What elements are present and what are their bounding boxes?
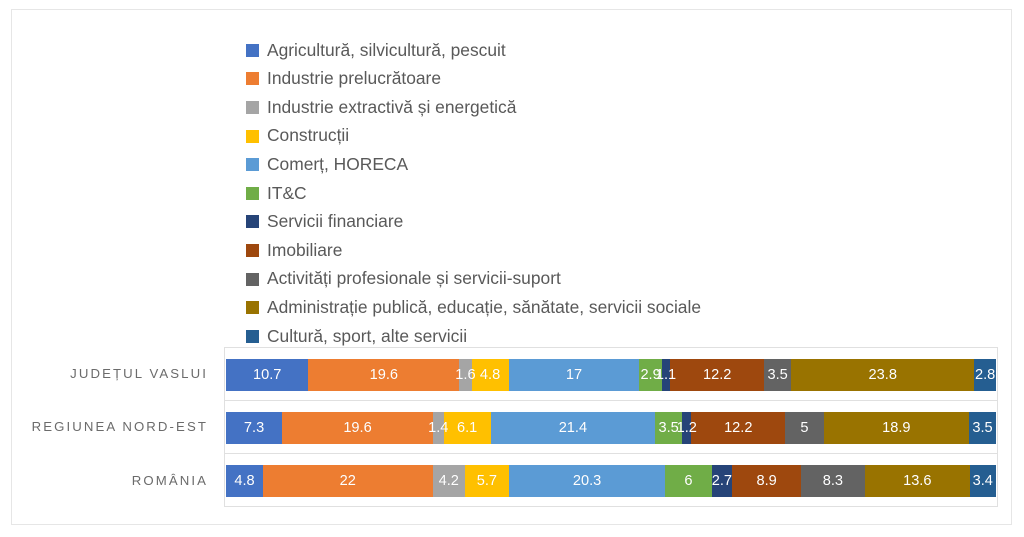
legend-item[interactable]: Industrie prelucrătoare — [246, 65, 846, 94]
bar-segment-data-label: 4.8 — [234, 474, 254, 489]
bar-segment-data-label: 1.6 — [455, 368, 475, 383]
bar-segment[interactable]: 8.3 — [801, 465, 865, 497]
bar-segment-data-label: 3.4 — [973, 474, 993, 489]
bar-segment-data-label: 22 — [340, 474, 356, 489]
plot-area: 10.719.61.64.8172.91.112.23.523.82.87.31… — [224, 347, 998, 507]
bar-segment-data-label: 10.7 — [253, 368, 281, 383]
bar-segment-data-label: 5.7 — [477, 474, 497, 489]
chart-container: Agricultură, silvicultură, pescuitIndust… — [0, 0, 1024, 537]
legend-item-label: Industrie prelucrătoare — [267, 70, 441, 87]
bar-segment[interactable]: 4.2 — [433, 465, 465, 497]
bar-segment-data-label: 2.7 — [712, 474, 732, 489]
bar-segment[interactable]: 2.7 — [712, 465, 733, 497]
legend-item[interactable]: Comerț, HORECA — [246, 150, 846, 179]
bar-segment-data-label: 4.8 — [480, 368, 500, 383]
bar-segment[interactable]: 3.5 — [764, 359, 791, 391]
category-axis-label: JUDEȚUL VASLUI — [70, 347, 208, 400]
bar-segment-data-label: 3.5 — [767, 368, 787, 383]
legend-item[interactable]: Construcții — [246, 122, 846, 151]
legend-swatch-icon — [246, 330, 259, 343]
bar-segment[interactable]: 13.6 — [865, 465, 970, 497]
bar-segment[interactable]: 22 — [263, 465, 433, 497]
bar-segment-data-label: 7.3 — [244, 421, 264, 436]
bar-segment[interactable]: 5 — [785, 412, 823, 444]
gridline — [225, 453, 997, 454]
bar-row: 4.8224.25.720.362.78.98.313.63.4 — [226, 465, 996, 497]
bar-segment[interactable]: 19.6 — [282, 412, 433, 444]
legend-swatch-icon — [246, 72, 259, 85]
legend-item-label: Industrie extractivă și energetică — [267, 99, 516, 116]
bar-segment-data-label: 3.5 — [972, 421, 992, 436]
plot-wrapper: JUDEȚUL VASLUIREGIUNEA NORD-ESTROMÂNIA 1… — [20, 347, 998, 507]
legend-item[interactable]: Activități profesionale și servicii-supo… — [246, 265, 846, 294]
bar-segment-data-label: 19.6 — [343, 421, 371, 436]
bar-row: 7.319.61.46.121.43.51.212.2518.93.5 — [226, 412, 996, 444]
legend-item[interactable]: Servicii financiare — [246, 208, 846, 237]
bar-segment[interactable]: 8.9 — [732, 465, 801, 497]
category-axis-label: ROMÂNIA — [132, 454, 208, 507]
bar-segment[interactable]: 1.1 — [662, 359, 670, 391]
bar-segment-data-label: 5 — [800, 421, 808, 436]
legend-item[interactable]: Industrie extractivă și energetică — [246, 93, 846, 122]
legend-swatch-icon — [246, 158, 259, 171]
bar-segment[interactable]: 20.3 — [509, 465, 665, 497]
bar-segment[interactable]: 5.7 — [465, 465, 509, 497]
bar-segment-data-label: 18.9 — [882, 421, 910, 436]
bar-segment[interactable]: 10.7 — [226, 359, 308, 391]
bar-segment[interactable]: 18.9 — [824, 412, 969, 444]
bar-segment[interactable]: 4.8 — [472, 359, 509, 391]
bar-segment-data-label: 1.4 — [428, 421, 448, 436]
bar-segment[interactable]: 3.5 — [969, 412, 996, 444]
bar-segment[interactable]: 12.2 — [670, 359, 764, 391]
bar-segment-data-label: 21.4 — [559, 421, 587, 436]
legend-item-label: Imobiliare — [267, 242, 342, 259]
bar-segment[interactable]: 23.8 — [791, 359, 974, 391]
legend-item-label: Agricultură, silvicultură, pescuit — [267, 42, 506, 59]
category-axis-labels: JUDEȚUL VASLUIREGIUNEA NORD-ESTROMÂNIA — [20, 347, 216, 507]
legend-item-label: Servicii financiare — [267, 213, 403, 230]
bar-segment-data-label: 2.8 — [975, 368, 995, 383]
bar-segment[interactable]: 2.8 — [974, 359, 996, 391]
bar-segment-data-label: 8.3 — [823, 474, 843, 489]
legend-swatch-icon — [246, 130, 259, 143]
bar-segment-data-label: 23.8 — [869, 368, 897, 383]
bar-segment[interactable]: 4.8 — [226, 465, 263, 497]
legend-swatch-icon — [246, 244, 259, 257]
legend-swatch-icon — [246, 44, 259, 57]
legend-item-label: Administrație publică, educație, sănătat… — [267, 299, 701, 316]
legend-item-label: IT&C — [267, 185, 307, 202]
bar-segment-data-label: 4.2 — [439, 474, 459, 489]
chart-legend: Agricultură, silvicultură, pescuitIndust… — [246, 36, 846, 351]
legend-swatch-icon — [246, 101, 259, 114]
bar-segment[interactable]: 21.4 — [491, 412, 656, 444]
legend-swatch-icon — [246, 301, 259, 314]
legend-swatch-icon — [246, 215, 259, 228]
legend-item[interactable]: Imobiliare — [246, 236, 846, 265]
bar-row: 10.719.61.64.8172.91.112.23.523.82.8 — [226, 359, 996, 391]
bar-segment-data-label: 12.2 — [703, 368, 731, 383]
bar-segment-data-label: 6.1 — [457, 421, 477, 436]
bar-segment-data-label: 12.2 — [724, 421, 752, 436]
bar-segment[interactable]: 12.2 — [691, 412, 785, 444]
legend-swatch-icon — [246, 187, 259, 200]
legend-item-label: Comerț, HORECA — [267, 156, 408, 173]
bar-segment-data-label: 1.1 — [656, 368, 676, 383]
legend-item-label: Cultură, sport, alte servicii — [267, 328, 467, 345]
bar-segment-data-label: 6 — [684, 474, 692, 489]
legend-item[interactable]: Administrație publică, educație, sănătat… — [246, 293, 846, 322]
bar-segment-data-label: 8.9 — [756, 474, 776, 489]
legend-item-label: Activități profesionale și servicii-supo… — [267, 270, 561, 287]
bar-segment[interactable]: 6.1 — [444, 412, 491, 444]
bar-segment[interactable]: 3.4 — [970, 465, 996, 497]
bar-segment[interactable]: 1.4 — [433, 412, 444, 444]
bar-segment[interactable]: 17 — [509, 359, 640, 391]
bar-segment-data-label: 19.6 — [370, 368, 398, 383]
category-axis-label: REGIUNEA NORD-EST — [32, 400, 208, 453]
legend-item[interactable]: Agricultură, silvicultură, pescuit — [246, 36, 846, 65]
bar-segment[interactable]: 19.6 — [308, 359, 459, 391]
bar-segment-data-label: 13.6 — [903, 474, 931, 489]
bar-segment[interactable]: 1.2 — [682, 412, 691, 444]
bar-segment[interactable]: 1.6 — [459, 359, 471, 391]
legend-swatch-icon — [246, 273, 259, 286]
bar-segment-data-label: 17 — [566, 368, 582, 383]
bar-segment[interactable]: 7.3 — [226, 412, 282, 444]
legend-item-label: Construcții — [267, 127, 349, 144]
bar-segment-data-label: 1.2 — [677, 421, 697, 436]
legend-item[interactable]: IT&C — [246, 179, 846, 208]
bar-segment-data-label: 20.3 — [573, 474, 601, 489]
gridline — [225, 400, 997, 401]
bar-segment[interactable]: 6 — [665, 465, 711, 497]
